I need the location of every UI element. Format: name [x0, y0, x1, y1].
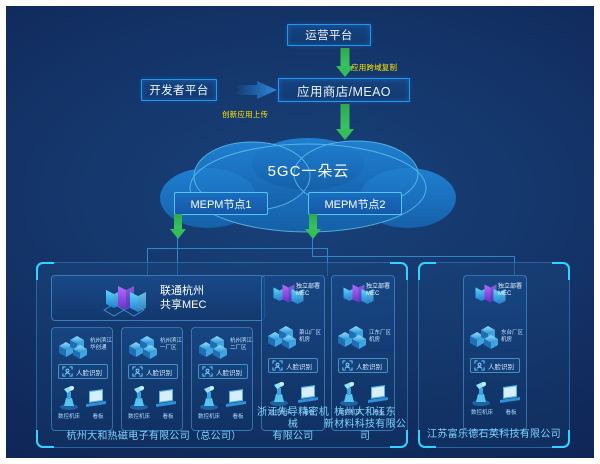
cloud-title: 5GC一朵云	[156, 160, 461, 181]
server-cubes-icon	[126, 334, 160, 360]
device-label-cnc: 数控机床	[194, 412, 224, 420]
face-recognition-badge: 人脸识别	[58, 364, 108, 379]
site-name: 杭州滨江 二厂区	[230, 338, 252, 352]
arrow-down-mepm2	[304, 214, 322, 240]
face-recognition-badge: 人脸识别	[128, 364, 178, 379]
face-recognition-icon	[342, 360, 353, 371]
site-name: 东台厂区 机房	[501, 330, 523, 344]
cnc-machine-icon	[268, 380, 290, 406]
site-name: 萧山厂区 机房	[299, 330, 321, 344]
server-cubes-icon	[265, 324, 299, 350]
kanban-laptop-icon	[85, 388, 107, 408]
cnc-machine-icon	[58, 384, 80, 410]
server-cubes-icon	[196, 334, 230, 360]
diagram-root: 运营平台 开发者平台 应用商店/MEAO 应用跨域复制 创新应用上传	[0, 0, 600, 464]
device-label-kanban: 看板	[497, 408, 525, 416]
kanban-laptop-icon	[367, 384, 389, 404]
diagram-canvas: 运营平台 开发者平台 应用商店/MEAO 应用跨域复制 创新应用上传	[6, 6, 594, 458]
label-cross-domain-replication: 应用跨域复制	[351, 62, 397, 73]
face-recognition-icon	[62, 366, 73, 377]
standalone-mec-label: 独立部署 MEC	[498, 284, 522, 298]
kanban-laptop-icon	[155, 388, 177, 408]
arrow-down-appstore-to-cloud	[335, 104, 355, 140]
face-recognition-badge: 人脸识别	[338, 358, 388, 373]
site-name: 杭州滨江 一厂区	[160, 338, 182, 352]
face-recognition-icon	[474, 360, 485, 371]
site-card-factory-2: 杭州滨江 二厂区 人脸识别	[191, 327, 253, 431]
caption-fuledé: 江苏富乐德石英科技有限公司	[419, 429, 569, 441]
face-recognition-label: 人脸识别	[488, 361, 514, 371]
device-label-cnc: 数控机床	[54, 412, 84, 420]
label-innovative-app-upload: 创新应用上传	[222, 109, 268, 120]
cnc-machine-icon	[198, 384, 220, 410]
bar-chart-3d-icon	[96, 280, 152, 320]
shared-mec-label: 联通杭州 共享MEC	[160, 284, 260, 312]
panel-shared-mec: 联通杭州 共享MEC	[36, 262, 408, 448]
cnc-machine-icon	[338, 380, 360, 406]
device-label-cnc: 数控机床	[466, 408, 498, 416]
face-recognition-icon	[202, 366, 213, 377]
cnc-machine-icon	[470, 380, 492, 406]
server-cubes-icon	[335, 324, 369, 350]
device-label-cnc: 数控机床	[124, 412, 154, 420]
app-store-meao-node[interactable]: 应用商店/MEAO	[278, 78, 410, 102]
shared-mec-header-card: 联通杭州 共享MEC	[51, 275, 265, 321]
site-card-dongtai: 独立部署 MEC 东台厂区 机房	[463, 275, 527, 431]
site-name: 杭州滨江 华创通	[90, 338, 112, 352]
standalone-mec-label: 独立部署 MEC	[366, 284, 390, 298]
server-cubes-icon	[467, 324, 501, 350]
site-card-huachuangtong: 杭州滨江 华创通 人脸识别	[51, 327, 113, 431]
arrow-right-icon	[233, 81, 279, 99]
caption-xiandao: 浙江先导精密机械 有限公司	[255, 407, 331, 443]
device-label-kanban: 看板	[154, 412, 182, 420]
face-recognition-label: 人脸识别	[356, 361, 382, 371]
caption-jiangdong: 杭州大和江东 新材料科技有限公司	[323, 407, 407, 443]
device-label-kanban: 看板	[224, 412, 252, 420]
face-recognition-label: 人脸识别	[76, 367, 102, 377]
mepm-node-1[interactable]: MEPM节点1	[174, 192, 268, 215]
arrow-down-mepm1	[169, 214, 187, 240]
kanban-laptop-icon	[297, 384, 319, 404]
developer-platform-node[interactable]: 开发者平台	[141, 79, 217, 101]
face-recognition-badge: 人脸识别	[470, 358, 520, 373]
face-recognition-label: 人脸识别	[216, 367, 242, 377]
face-recognition-badge: 人脸识别	[198, 364, 248, 379]
face-recognition-label: 人脸识别	[146, 367, 172, 377]
kanban-laptop-icon	[499, 384, 521, 404]
panel-standalone-dongtai: 独立部署 MEC 东台厂区 机房	[418, 262, 570, 448]
site-name: 江东厂区 机房	[369, 330, 391, 344]
server-cubes-icon	[56, 334, 90, 360]
device-label-kanban: 看板	[84, 412, 112, 420]
mepm-node-2[interactable]: MEPM节点2	[308, 192, 402, 215]
standalone-mec-label: 独立部署 MEC	[296, 284, 320, 298]
cnc-machine-icon	[128, 384, 150, 410]
caption-daiwa-headquarters: 杭州大和热磁电子有限公司（总公司）	[43, 431, 265, 443]
shared-mec-label-line1: 联通杭州	[160, 284, 260, 298]
face-recognition-badge: 人脸识别	[268, 358, 318, 373]
kanban-laptop-icon	[225, 388, 247, 408]
shared-mec-label-line2: 共享MEC	[160, 298, 260, 312]
face-recognition-icon	[132, 366, 143, 377]
operation-platform-node[interactable]: 运营平台	[287, 24, 371, 46]
face-recognition-label: 人脸识别	[286, 361, 312, 371]
site-card-factory-1: 杭州滨江 一厂区 人脸识别	[121, 327, 183, 431]
face-recognition-icon	[272, 360, 283, 371]
